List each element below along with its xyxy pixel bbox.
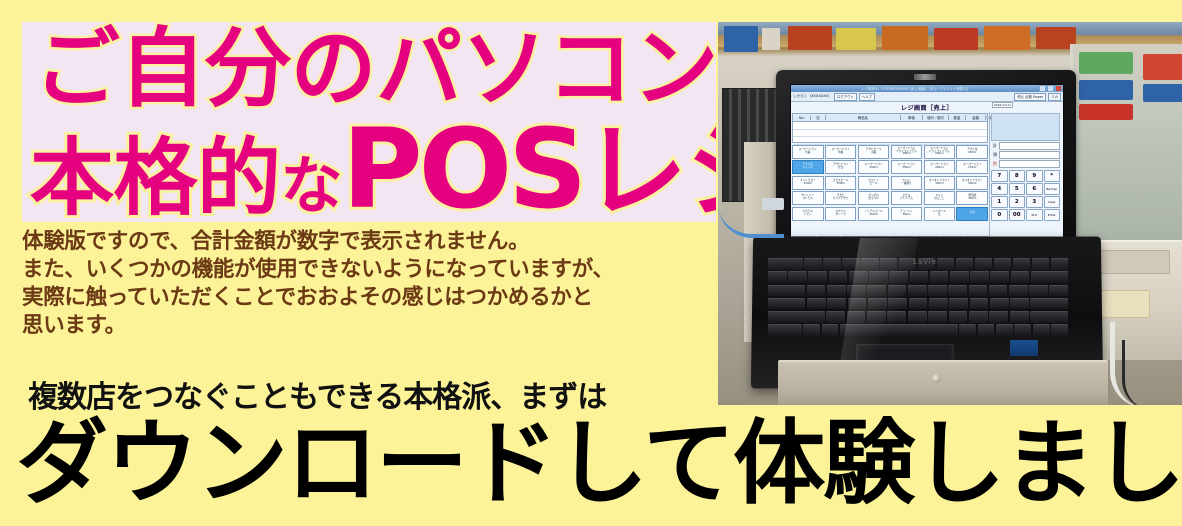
- photo-glass-door: [1070, 44, 1182, 244]
- pos-product-key[interactable]: スーパードライ135ml: [956, 160, 988, 174]
- headline-panel: ご自分のパソコンが 本格的なPOSレジに!!: [22, 22, 716, 222]
- headline-segment-na: な: [281, 155, 343, 217]
- black-cable: [1122, 340, 1182, 405]
- pos-grid-col-6: 金額: [966, 115, 986, 120]
- numpad-key-3[interactable]: 3: [1026, 196, 1043, 208]
- pos-right-pane: 計 預 釣 789*456Backsp123Clear000PLUEnter: [989, 112, 1061, 249]
- photo-printer-slot: [1090, 250, 1170, 274]
- pos-product-key[interactable]: アサヒクリアアサヒ: [825, 191, 857, 205]
- numpad-key-1[interactable]: 1: [991, 196, 1008, 208]
- keyboard-row: [768, 285, 1068, 297]
- laptop-brand-label: LaVie: [908, 258, 942, 266]
- pos-date-display: 9998/12/31: [992, 102, 1013, 108]
- pos-product-key[interactable]: キリンのどごし: [924, 191, 956, 205]
- pos-product-key[interactable]: スーパードライ500ml: [858, 160, 890, 174]
- numpad-key-00[interactable]: 00: [1009, 209, 1026, 221]
- numpad-key-clear[interactable]: Clear: [1044, 196, 1061, 208]
- pos-product-key[interactable]: スーパードライ中瓶: [825, 145, 857, 159]
- headline-segment-pos: POS: [342, 114, 583, 222]
- cash-drawer-lock: [932, 374, 941, 383]
- pos-product-key[interactable]: ヱビスプレミアム: [891, 191, 923, 205]
- pos-product-key[interactable]: オリオンドラフト350ml: [924, 176, 956, 190]
- pos-grid-col-5: 数量: [949, 115, 966, 120]
- numpad-key-8[interactable]: 8: [1009, 170, 1026, 182]
- pos-power-status: 停止 点検 Power: [1014, 93, 1046, 101]
- pos-grid-col-4: 値引／割引: [923, 115, 949, 120]
- pos-product-key[interactable]: ハイボール缶: [924, 207, 956, 221]
- photo-receipt-paper: [1094, 290, 1150, 318]
- pos-item-grid-header: No.区商品名単価値引／割引数量金額税: [792, 113, 988, 122]
- pos-product-key[interactable]: スーパードライ大瓶: [792, 145, 824, 159]
- pos-product-key[interactable]: ノンアルコール350ml: [858, 207, 890, 221]
- pos-product-key[interactable]: サントリープレモル: [792, 191, 824, 205]
- pos-product-key[interactable]: 小計: [956, 207, 988, 221]
- pos-product-key[interactable]: アサヒドライゼロ: [825, 160, 857, 174]
- keyboard-row: [768, 311, 1068, 323]
- pos-product-key[interactable]: ホワイトビール: [858, 176, 890, 190]
- numpad-key-plu[interactable]: PLU: [1026, 209, 1043, 221]
- pos-screen-title: レジ画面［売上］: [791, 102, 1063, 112]
- pos-help-button[interactable]: ヘルプ: [859, 93, 875, 101]
- pos-numeric-keypad[interactable]: 789*456Backsp123Clear000PLUEnter: [991, 170, 1060, 221]
- lan-plug: [762, 198, 784, 210]
- maximize-icon[interactable]: [1047, 85, 1054, 92]
- close-icon[interactable]: [1055, 85, 1062, 92]
- pos-product-key[interactable]: スーパードライ350ml: [891, 160, 923, 174]
- pos-product-key[interactable]: チューハイ350ml: [891, 207, 923, 221]
- headline-segment-reji: レジ: [583, 119, 716, 222]
- keyboard-row: [768, 324, 1068, 336]
- pos-product-key[interactable]: サッポロ黒ラベル: [858, 191, 890, 205]
- laptop-webcam: [914, 74, 936, 80]
- laptop-cpu-sticker: [1010, 340, 1038, 356]
- pos-laptop-photo: レジ販売(1) - POS-REG000001 [売上 画面] - [売上／クレ…: [718, 22, 1182, 405]
- pos-toolbar: しせらく（XXXXXXX） ログアウト ヘルプ 停止 点検 Power ミカ: [791, 92, 1063, 102]
- pos-product-key[interactable]: スーパードライドライプレミアム350ml: [891, 145, 923, 159]
- headline-line-1: ご自分のパソコンが: [34, 26, 716, 112]
- pos-product-key[interactable]: エビスビール350ml: [825, 176, 857, 190]
- pos-product-key[interactable]: キリン一番搾り: [891, 176, 923, 190]
- pos-product-key-grid[interactable]: スーパードライ大瓶スーパードライ中瓶アサヒビール小瓶スーパードライドライプレミア…: [792, 145, 988, 221]
- pos-left-pane: No.区商品名単価値引／割引数量金額税 スーパードライ大瓶スーパードライ中瓶アサ…: [791, 112, 989, 249]
- pos-body: No.区商品名単価値引／割引数量金額税 スーパードライ大瓶スーパードライ中瓶アサ…: [791, 112, 1063, 249]
- numpad-key-5[interactable]: 5: [1009, 183, 1026, 195]
- headline-segment-honkaku: 本格的: [30, 136, 281, 220]
- pos-total-display: [991, 113, 1060, 141]
- body-paragraph: 体験版ですので、合計金額が数字で表示されません。 また、いくつかの機能が使用でき…: [22, 228, 722, 340]
- pos-product-key[interactable]: オリオンドラフト500ml: [956, 176, 988, 190]
- headline-line-2: 本格的なPOSレジに!!: [30, 114, 716, 222]
- pos-product-key[interactable]: アサヒ生350ml: [956, 145, 988, 159]
- numpad-key-6[interactable]: 6: [1026, 183, 1043, 195]
- laptop-keyboard[interactable]: [768, 258, 1068, 336]
- numpad-key-enter[interactable]: Enter: [1044, 209, 1061, 221]
- pos-grid-col-3: 単価: [901, 115, 923, 120]
- pos-deposit-field[interactable]: [999, 151, 1060, 159]
- minimize-icon[interactable]: [1039, 85, 1046, 92]
- numpad-key-2[interactable]: 2: [1009, 196, 1026, 208]
- pos-product-key[interactable]: カクテルレモン: [792, 207, 824, 221]
- pos-product-key[interactable]: カクテルグレープ: [825, 207, 857, 221]
- pos-total-field[interactable]: [999, 142, 1060, 150]
- pos-application-screen[interactable]: レジ販売(1) - POS-REG000001 [売上 画面] - [売上／クレ…: [790, 84, 1064, 258]
- pos-change-field[interactable]: [999, 160, 1060, 168]
- pos-window-title: レジ販売(1) - POS-REG000001 [売上 画面] - [売上／クレ…: [792, 86, 1038, 91]
- keyboard-row: [768, 271, 1068, 283]
- pos-grid-col-2: 商品名: [826, 115, 901, 120]
- pos-store-select[interactable]: ミカ: [1048, 93, 1061, 101]
- numpad-key-4[interactable]: 4: [991, 183, 1008, 195]
- pos-total-label: 計: [991, 143, 999, 149]
- pos-grid-col-1: 区: [811, 115, 826, 120]
- pos-product-key[interactable]: スーパードライドライプレミアム500ml: [924, 145, 956, 159]
- pos-change-label: 釣: [991, 161, 999, 167]
- pos-window-titlebar: レジ販売(1) - POS-REG000001 [売上 画面] - [売上／クレ…: [791, 85, 1063, 92]
- pos-product-key[interactable]: 発泡酒350ml: [956, 191, 988, 205]
- call-to-action: ダウンロードして体験しましょう。: [16, 418, 1182, 510]
- promo-banner: ご自分のパソコンが 本格的なPOSレジに!!: [0, 0, 1182, 526]
- numpad-key-*[interactable]: *: [1044, 170, 1061, 182]
- cash-drawer: [778, 360, 1108, 405]
- pos-product-key[interactable]: アサヒビール小瓶: [858, 145, 890, 159]
- pos-operator-label: しせらく（XXXXXXX）: [793, 94, 832, 99]
- numpad-key-0[interactable]: 0: [991, 209, 1008, 221]
- pos-product-key[interactable]: スーパードライ250ml: [924, 160, 956, 174]
- pos-logout-button[interactable]: ログアウト: [834, 93, 857, 101]
- pos-grid-col-0: No.: [793, 116, 811, 120]
- pos-product-key[interactable]: キリンラガー350ml: [792, 176, 824, 190]
- numpad-key-7[interactable]: 7: [991, 170, 1008, 182]
- pos-product-key[interactable]: アサヒ生ジョッキ: [792, 160, 824, 174]
- pos-deposit-label: 預: [991, 152, 999, 158]
- pos-item-grid-rows[interactable]: [792, 122, 988, 143]
- numpad-key-9[interactable]: 9: [1026, 170, 1043, 182]
- numpad-key-backsp[interactable]: Backsp: [1044, 183, 1061, 195]
- keyboard-row: [768, 298, 1068, 310]
